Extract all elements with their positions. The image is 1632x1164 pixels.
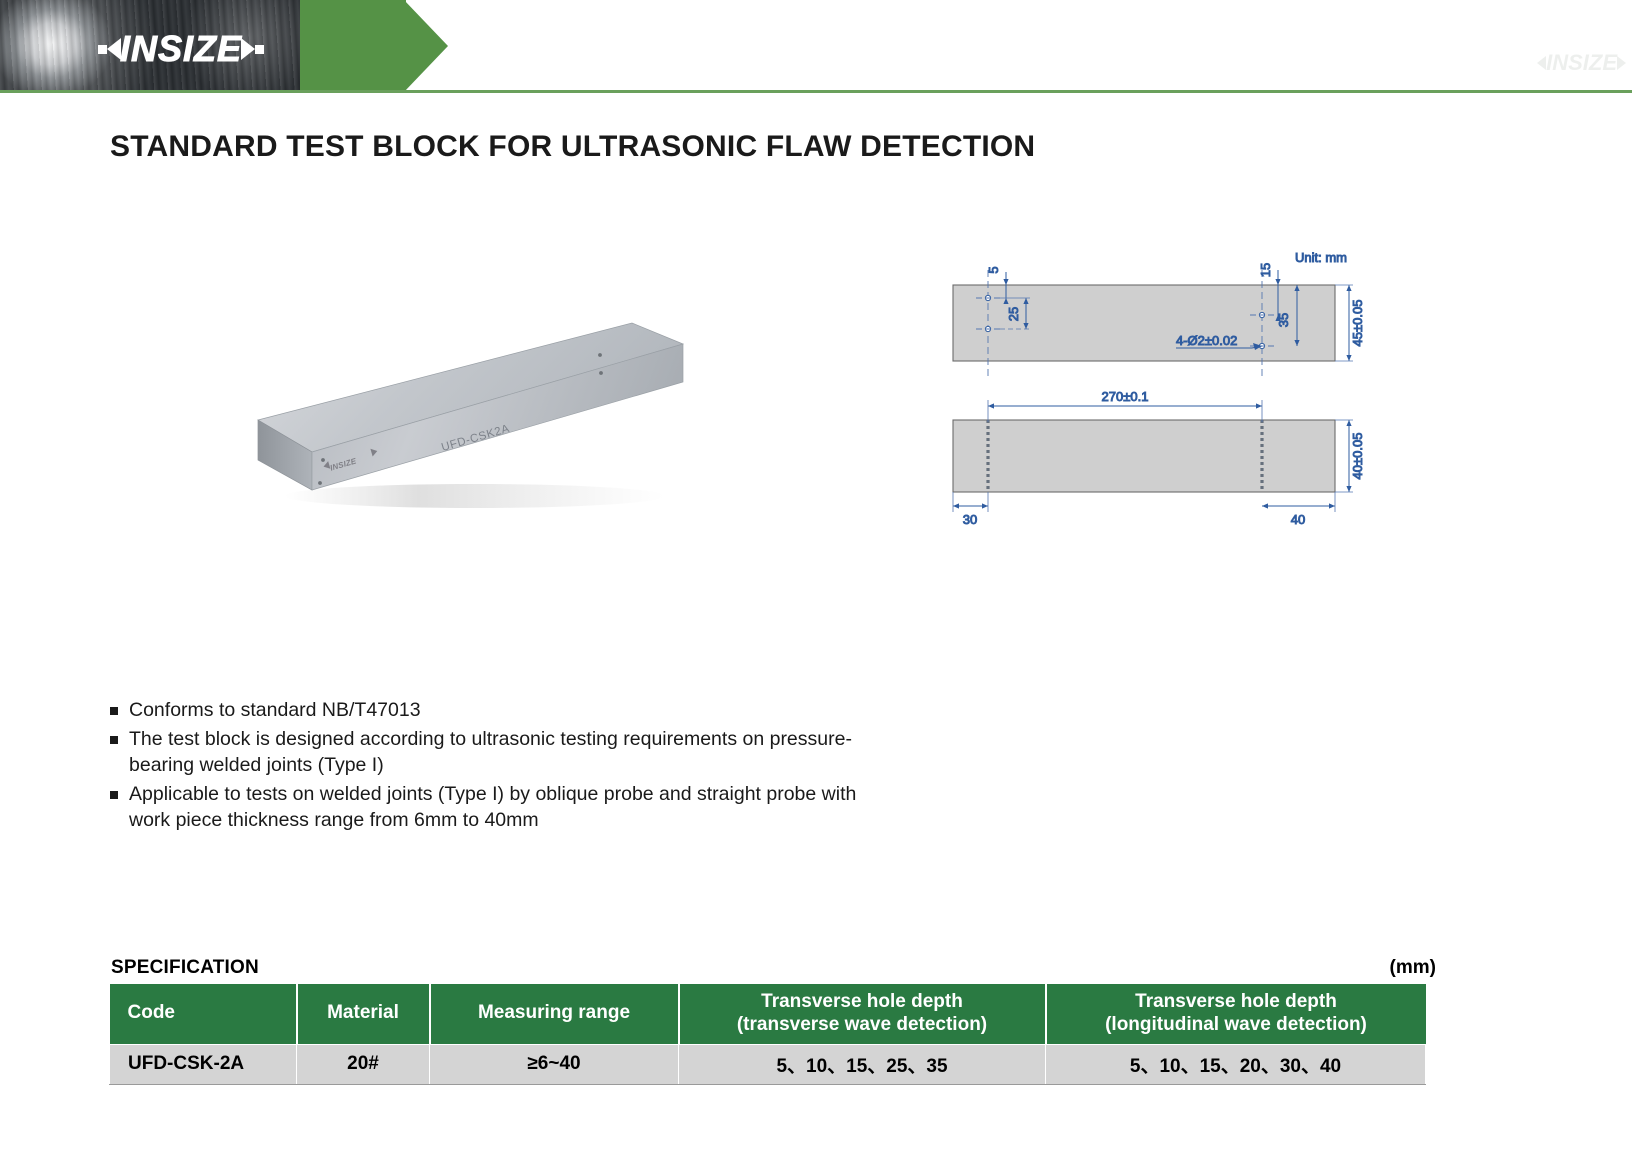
block-hole	[321, 458, 325, 462]
list-item: Applicable to tests on welded joints (Ty…	[110, 782, 870, 834]
watermark-right-arrow-icon	[1617, 56, 1626, 70]
list-item: Conforms to standard NB/T47013	[110, 698, 870, 724]
bullet-square-icon	[110, 736, 118, 744]
hole-callout-label: 4-Ø2±0.02	[1176, 333, 1237, 348]
column-header-longitudinal-wave-line2: (longitudinal wave detection)	[1105, 1014, 1367, 1035]
insize-watermark: INSIZE	[1537, 52, 1626, 74]
dim-5-label: 5	[986, 266, 1001, 273]
dim-40h-arrow	[1346, 486, 1351, 492]
list-item-label: Applicable to tests on welded joints (Ty…	[129, 782, 870, 834]
header-green-rule	[0, 90, 1632, 93]
logo-right-arrow-icon	[241, 38, 255, 60]
bullet-square-icon	[110, 707, 118, 715]
column-header-measuring-range-line1: Measuring range	[478, 1002, 630, 1023]
dim-30-label: 30	[963, 512, 977, 527]
dim-30-arrow	[953, 503, 959, 508]
dim-40h-arrow	[1346, 420, 1351, 426]
dim-45-label: 45±0.05	[1350, 300, 1365, 347]
dim-30-arrow	[982, 503, 988, 508]
logo-wordmark: INSIZE	[120, 31, 242, 67]
page-header: INSIZE INSIZE	[0, 0, 1632, 93]
watermark-wordmark: INSIZE	[1546, 52, 1617, 74]
feature-list: Conforms to standard NB/T47013 The test …	[110, 698, 870, 837]
column-header-transverse-wave: Transverse hole depth (transverse wave d…	[679, 984, 1046, 1044]
dim-35-label: 35	[1276, 313, 1291, 327]
column-header-longitudinal-wave: Transverse hole depth (longitudinal wave…	[1046, 984, 1426, 1044]
watermark-left-arrow-icon	[1537, 56, 1546, 70]
product-photo: UFD-CSK2A INSIZE	[240, 300, 700, 530]
cell-transverse-wave: 5、10、15、25、35	[679, 1044, 1046, 1084]
logo-right-bar	[255, 45, 264, 54]
column-header-measuring-range: Measuring range	[430, 984, 679, 1044]
dim-25-label: 25	[1006, 307, 1021, 321]
list-item-label: Conforms to standard NB/T47013	[129, 698, 421, 724]
specification-heading: SPECIFICATION	[111, 957, 259, 979]
dim-270-label: 270±0.1	[1102, 389, 1149, 404]
dim-15-arrow	[1275, 279, 1280, 285]
technical-drawing: Unit: mm 5 25 15	[940, 240, 1410, 540]
page-title: STANDARD TEST BLOCK FOR ULTRASONIC FLAW …	[110, 130, 1035, 164]
dim-40-offset-arrow	[1329, 503, 1335, 508]
side-view-body	[953, 420, 1335, 492]
logo-left-arrow-icon	[107, 38, 121, 60]
dim-40h-label: 40±0.05	[1350, 433, 1365, 480]
dim-45-arrow	[1346, 355, 1351, 361]
table-header-row: Code Material Measuring range Transverse…	[110, 984, 1426, 1044]
header-green-block	[300, 0, 406, 92]
column-header-material-line1: Material	[327, 1002, 399, 1023]
column-header-longitudinal-wave-line1: Transverse hole depth	[1135, 991, 1337, 1012]
header-green-arrow	[404, 0, 448, 92]
unit-label: Unit: mm	[1295, 250, 1347, 265]
column-header-code: Code	[110, 984, 297, 1044]
column-header-code-line1: Code	[128, 1002, 176, 1023]
specification-unit-label: (mm)	[1390, 957, 1436, 979]
list-item-label: The test block is designed according to …	[129, 727, 870, 779]
cell-material: 20#	[297, 1044, 430, 1084]
block-hole	[318, 481, 322, 485]
specification-table: Code Material Measuring range Transverse…	[109, 984, 1426, 1085]
dim-270-arrow	[1256, 403, 1262, 408]
photo-shadow	[285, 484, 665, 508]
column-header-transverse-wave-line2: (transverse wave detection)	[737, 1014, 987, 1035]
dim-15-label: 15	[1258, 263, 1273, 277]
cell-longitudinal-wave: 5、10、15、20、30、40	[1046, 1044, 1426, 1084]
dim-40-offset-arrow	[1262, 503, 1268, 508]
bullet-square-icon	[110, 791, 118, 799]
list-item: The test block is designed according to …	[110, 727, 870, 779]
column-header-transverse-wave-line1: Transverse hole depth	[761, 991, 963, 1012]
dim-5-arrow	[1003, 279, 1008, 285]
cell-measuring-range: ≥6~40	[430, 1044, 679, 1084]
dim-40-offset-label: 40	[1291, 512, 1305, 527]
column-header-material: Material	[297, 984, 430, 1044]
logo-left-bar	[98, 45, 107, 54]
dim-270-arrow	[988, 403, 994, 408]
table-row: UFD-CSK-2A 20# ≥6~40 5、10、15、25、35 5、10、…	[110, 1044, 1426, 1084]
cell-code: UFD-CSK-2A	[110, 1044, 297, 1084]
insize-logo: INSIZE	[98, 31, 264, 67]
dim-45-arrow	[1346, 285, 1351, 291]
block-hole	[598, 353, 602, 357]
block-hole	[599, 371, 603, 375]
